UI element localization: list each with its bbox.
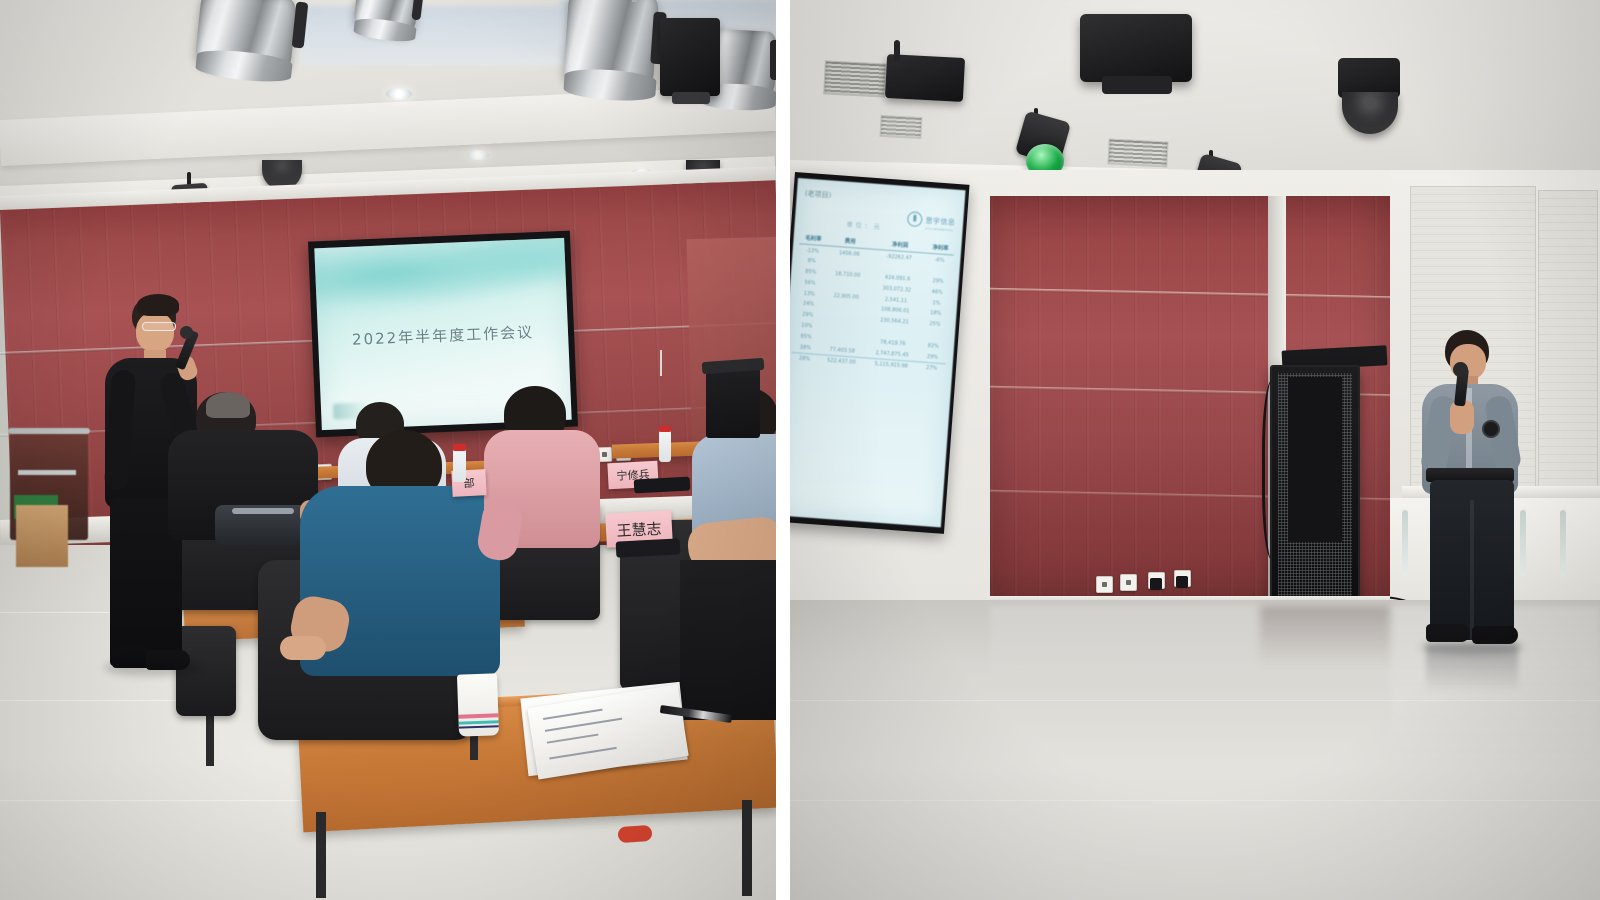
black-moving-head: [660, 18, 720, 96]
attendee-lower: [680, 560, 776, 720]
logo-mark-icon: [907, 211, 923, 227]
bottle-cap: [453, 444, 466, 451]
logo-text: 思宇信息: [925, 216, 955, 226]
wall-switch: [660, 350, 662, 376]
name-card-text: 王慧志: [616, 517, 662, 540]
company-logo: 思宇信息 SIYU INFORMATION: [907, 208, 956, 232]
glasses-icon: [142, 322, 176, 331]
right-photo-panel: (老项目) 思宇信息 SIYU INFORMATION 单位：元 毛利率 费用 …: [790, 0, 1600, 900]
table-cell: 522,437.00: [818, 354, 865, 369]
railing-post: [1520, 510, 1526, 576]
rack-reflection: [1260, 606, 1390, 666]
attendee-hand: [280, 636, 326, 660]
rack-panel: [1288, 377, 1342, 542]
plug: [1150, 578, 1162, 590]
ceiling-downlight: [386, 88, 412, 100]
notebook: [616, 538, 681, 557]
slide-header: (老项目): [805, 189, 957, 210]
floor-tile-line: [790, 700, 1600, 701]
left-window-glare: [300, 6, 600, 66]
floor-tile-line: [0, 800, 300, 801]
wristwatch: [1482, 420, 1500, 438]
black-moving-head-base: [1102, 76, 1172, 94]
microphone-head: [1453, 362, 1468, 377]
black-moving-head-base: [672, 92, 710, 104]
water-bottle: [453, 448, 466, 482]
projector-mount-arm: [894, 40, 900, 62]
right-projector-screen: (老项目) 思宇信息 SIYU INFORMATION 单位：元 毛利率 费用 …: [790, 178, 966, 527]
rack-cable: [1262, 380, 1287, 560]
notebook: [634, 477, 691, 494]
wall-outlet: [1120, 574, 1137, 591]
ac-vent: [1107, 138, 1168, 167]
service-cart-shelf: [18, 470, 76, 475]
table-cell: 27%: [917, 362, 945, 375]
microphone-head: [180, 326, 193, 339]
railing-post: [1560, 510, 1566, 576]
service-cart-rail: [8, 428, 90, 434]
water-bottle: [659, 430, 671, 462]
presenter-face: [136, 312, 174, 352]
plug: [1176, 576, 1188, 588]
backpack-strap: [232, 508, 294, 514]
table-cell: 28%: [790, 352, 818, 365]
ac-vent: [823, 60, 887, 97]
railing-post: [1402, 510, 1408, 576]
left-photo-panel: 2022年半年度工作会议: [0, 0, 776, 900]
table-leg: [742, 800, 752, 896]
presenter-shadow: [104, 660, 200, 676]
presenter-floor-reflection: [1426, 644, 1518, 692]
financial-slide: (老项目) 思宇信息 SIYU INFORMATION 单位：元 毛利率 费用 …: [790, 178, 966, 527]
floor-tile-line: [790, 800, 1600, 801]
photo-pair-stage: 2022年半年度工作会议: [0, 0, 1600, 900]
presenter-hair-top: [137, 294, 179, 316]
ceiling-downlight: [467, 150, 489, 160]
photo-gutter: [776, 0, 790, 900]
monitor: [706, 368, 760, 438]
bottle-cap: [659, 426, 671, 432]
slide-title: 2022年半年度工作会议: [318, 320, 569, 351]
chrome-stage-light: [190, 0, 310, 102]
trouser-seam: [1470, 500, 1474, 640]
slide-gradient-wash-2: [434, 238, 572, 293]
logo-subtext: SIYU INFORMATION: [925, 227, 955, 232]
slide-unit-label: 单位：元: [846, 220, 883, 232]
financial-table: 毛利率 费用 净利润 净利率 -13%1456.06-92262.47-6%8%…: [790, 230, 954, 375]
ac-vent: [879, 115, 922, 139]
attendee-hair-gray: [206, 392, 250, 418]
window-blind-2: [1538, 190, 1598, 488]
red-object-on-floor: [617, 825, 652, 843]
cardboard-box: [16, 505, 68, 567]
table-body: -13%1456.06-92262.47-6%8%85%18,710.00424…: [790, 244, 953, 375]
paper-cup: [457, 673, 499, 736]
table-leg: [316, 812, 326, 898]
black-moving-head: [1080, 14, 1192, 82]
chrome-stage-light: [355, 0, 425, 52]
